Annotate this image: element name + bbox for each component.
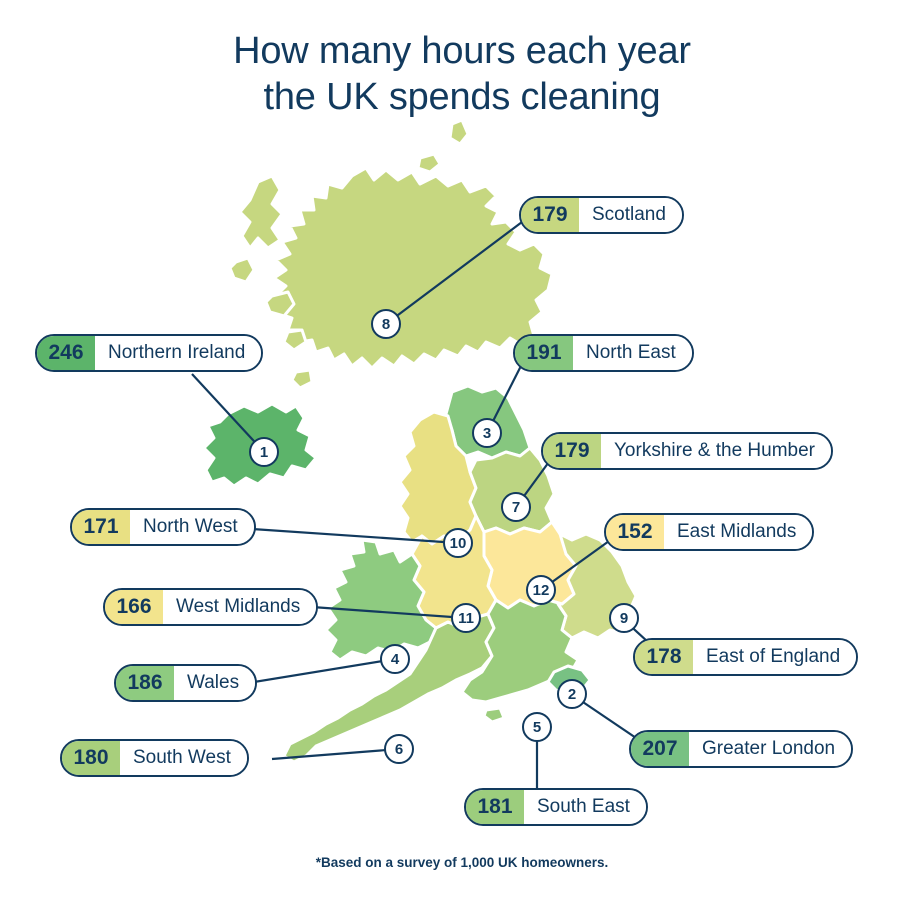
label-yorkshire-value: 179 bbox=[543, 434, 601, 468]
map-marker-11-label: 11 bbox=[458, 610, 474, 627]
label-greater-london-value: 207 bbox=[631, 732, 689, 766]
label-east-of-england-value: 178 bbox=[635, 640, 693, 674]
map-marker-8-label: 8 bbox=[382, 316, 390, 333]
map-marker-12-label: 12 bbox=[533, 582, 550, 599]
label-west-midlands-name: West Midlands bbox=[163, 590, 316, 624]
label-west-midlands-value: 166 bbox=[105, 590, 163, 624]
map-marker-4-label: 4 bbox=[391, 651, 399, 668]
label-east-midlands-value: 152 bbox=[606, 515, 664, 549]
label-northern-ireland-value: 246 bbox=[37, 336, 95, 370]
label-scotland[interactable]: 179 Scotland bbox=[519, 196, 684, 234]
map-marker-5[interactable]: 5 bbox=[522, 712, 552, 742]
map-region-islay bbox=[292, 370, 312, 388]
label-south-west-name: South West bbox=[120, 741, 247, 775]
label-north-east-name: North East bbox=[573, 336, 692, 370]
label-wales[interactable]: 186 Wales bbox=[114, 664, 257, 702]
label-east-midlands[interactable]: 152 East Midlands bbox=[604, 513, 814, 551]
label-east-of-england[interactable]: 178 East of England bbox=[633, 638, 858, 676]
label-south-west[interactable]: 180 South West bbox=[60, 739, 249, 777]
map-region-outer-hebrides-south bbox=[230, 258, 254, 282]
label-north-east-value: 191 bbox=[515, 336, 573, 370]
label-north-west[interactable]: 171 North West bbox=[70, 508, 256, 546]
label-north-east[interactable]: 191 North East bbox=[513, 334, 694, 372]
map-marker-8[interactable]: 8 bbox=[371, 309, 401, 339]
map-marker-7-label: 7 bbox=[512, 499, 520, 516]
map-marker-11[interactable]: 11 bbox=[451, 603, 481, 633]
label-south-east[interactable]: 181 South East bbox=[464, 788, 648, 826]
label-south-east-name: South East bbox=[524, 790, 646, 824]
label-greater-london-name: Greater London bbox=[689, 732, 851, 766]
map-marker-6-label: 6 bbox=[395, 741, 403, 758]
map-marker-5-label: 5 bbox=[533, 719, 541, 736]
map-region-mull bbox=[284, 330, 306, 350]
label-yorkshire[interactable]: 179 Yorkshire & the Humber bbox=[541, 432, 833, 470]
map-marker-1[interactable]: 1 bbox=[249, 437, 279, 467]
footnote: *Based on a survey of 1,000 UK homeowner… bbox=[0, 855, 924, 870]
map-marker-10[interactable]: 10 bbox=[443, 528, 473, 558]
map-marker-7[interactable]: 7 bbox=[501, 492, 531, 522]
label-east-midlands-name: East Midlands bbox=[664, 515, 812, 549]
map-marker-6[interactable]: 6 bbox=[384, 734, 414, 764]
map-region-shetland bbox=[450, 120, 468, 144]
map-marker-2-label: 2 bbox=[568, 686, 576, 703]
label-scotland-name: Scotland bbox=[579, 198, 682, 232]
map-region-hebrides bbox=[240, 176, 282, 248]
label-wales-name: Wales bbox=[174, 666, 255, 700]
map-marker-9-label: 9 bbox=[620, 610, 628, 627]
label-wales-value: 186 bbox=[116, 666, 174, 700]
map-marker-3[interactable]: 3 bbox=[472, 418, 502, 448]
label-east-of-england-name: East of England bbox=[693, 640, 856, 674]
map-region-scotland bbox=[274, 168, 552, 368]
label-south-west-value: 180 bbox=[62, 741, 120, 775]
map-marker-3-label: 3 bbox=[483, 425, 491, 442]
map-marker-4[interactable]: 4 bbox=[380, 644, 410, 674]
map-marker-10-label: 10 bbox=[450, 535, 467, 552]
map-marker-1-label: 1 bbox=[260, 444, 268, 461]
label-yorkshire-name: Yorkshire & the Humber bbox=[601, 434, 831, 468]
map-region-isle-of-wight bbox=[484, 708, 504, 722]
label-south-east-value: 181 bbox=[466, 790, 524, 824]
label-northern-ireland[interactable]: 246 Northern Ireland bbox=[35, 334, 263, 372]
map-marker-12[interactable]: 12 bbox=[526, 575, 556, 605]
label-greater-london[interactable]: 207 Greater London bbox=[629, 730, 853, 768]
label-north-west-name: North West bbox=[130, 510, 254, 544]
label-west-midlands[interactable]: 166 West Midlands bbox=[103, 588, 318, 626]
map-region-orkney bbox=[418, 154, 440, 172]
label-northern-ireland-name: Northern Ireland bbox=[95, 336, 261, 370]
label-north-west-value: 171 bbox=[72, 510, 130, 544]
infographic-canvas: How many hours each year the UK spends c… bbox=[0, 0, 924, 900]
map-marker-2[interactable]: 2 bbox=[557, 679, 587, 709]
map-marker-9[interactable]: 9 bbox=[609, 603, 639, 633]
label-scotland-value: 179 bbox=[521, 198, 579, 232]
